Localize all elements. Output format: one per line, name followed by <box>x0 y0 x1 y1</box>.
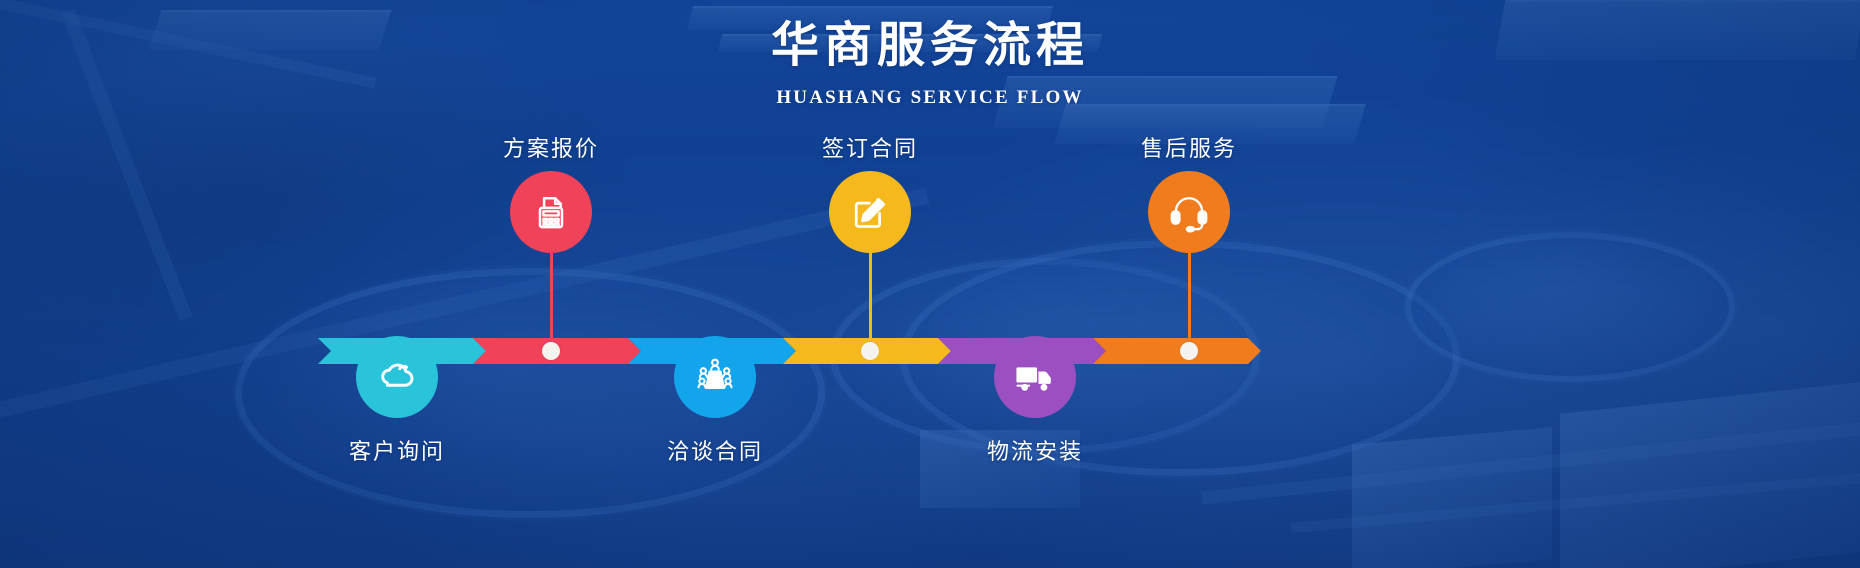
flow-step-dot-2[interactable] <box>542 342 560 360</box>
flow-step-2-label: 方案报价 <box>431 131 671 163</box>
flow-step-3-label: 洽谈合同 <box>595 434 835 466</box>
pen-sign-icon <box>848 190 892 234</box>
flow-step-6-circle[interactable] <box>1148 171 1230 253</box>
flow-arrow-segment-6[interactable] <box>1093 338 1261 364</box>
flow-step-5-circle[interactable] <box>994 336 1076 418</box>
flow-step-1-circle[interactable] <box>356 336 438 418</box>
calculator-receipt-icon <box>529 190 573 234</box>
banner-heading: 华商服务流程 HUASHANG SERVICE FLOW <box>0 18 1860 109</box>
flow-step-4-circle[interactable] <box>829 171 911 253</box>
flow-step-4-label: 签订合同 <box>750 131 990 163</box>
flow-step-dot-4[interactable] <box>861 342 879 360</box>
meeting-table-icon <box>693 355 737 399</box>
banner-stage: 华商服务流程 HUASHANG SERVICE FLOW 客户询问方案报价洽谈合… <box>0 0 1860 568</box>
flow-step-dot-6[interactable] <box>1180 342 1198 360</box>
delivery-truck-icon <box>1013 355 1057 399</box>
flow-step-3-circle[interactable] <box>674 336 756 418</box>
flow-step-6-label: 售后服务 <box>1069 131 1309 163</box>
page-subtitle: HUASHANG SERVICE FLOW <box>0 87 1860 109</box>
page-title: 华商服务流程 <box>0 18 1860 73</box>
flow-step-2-circle[interactable] <box>510 171 592 253</box>
headset-support-icon <box>1167 190 1211 234</box>
flow-step-1-label: 客户询问 <box>277 434 517 466</box>
flow-step-5-label: 物流安装 <box>915 434 1155 466</box>
cloud-chat-icon <box>375 355 419 399</box>
